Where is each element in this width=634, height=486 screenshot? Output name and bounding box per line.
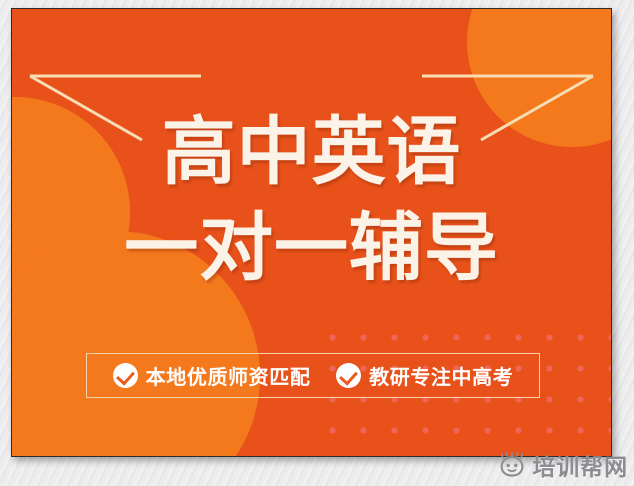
feature-badge-2-label: 教研专注中高考: [369, 361, 513, 390]
poster-panel: 高中英语 一对一辅导 本地优质师资匹配 教研专注中高考: [12, 9, 611, 456]
feature-badge-box: 本地优质师资匹配 教研专注中高考: [86, 353, 540, 398]
headline-block: 高中英语 一对一辅导: [12, 115, 611, 285]
feature-badge-2: 教研专注中高考: [336, 361, 513, 390]
screenshot-canvas: 高中英语 一对一辅导 本地优质师资匹配 教研专注中高考: [0, 0, 634, 486]
check-circle-icon: [113, 363, 138, 388]
headline-line-2: 一对一辅导: [12, 211, 611, 285]
feature-badge-1: 本地优质师资匹配: [113, 361, 311, 390]
sprout-face-logo-icon: [499, 452, 525, 478]
watermark-text: 培训帮网: [532, 448, 628, 482]
watermark: 培训帮网: [499, 448, 628, 482]
check-circle-icon: [336, 363, 361, 388]
feature-badge-1-label: 本地优质师资匹配: [146, 361, 311, 390]
headline-line-1: 高中英语: [12, 115, 611, 189]
